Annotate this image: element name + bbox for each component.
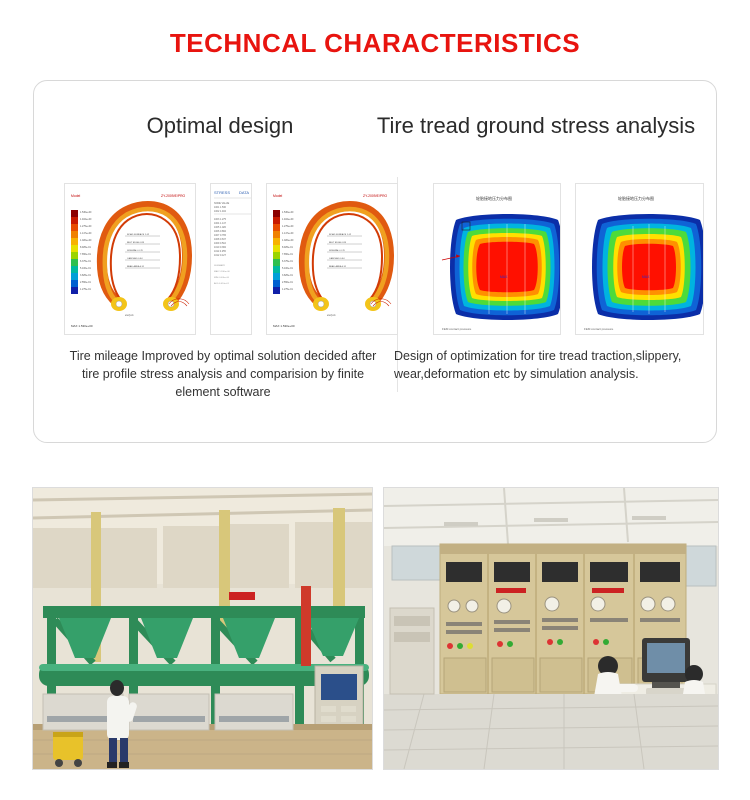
- control-room-photo: [383, 487, 719, 770]
- page-title: TECHNCAL CHARACTERISTICS: [0, 0, 750, 73]
- figure-gap: [412, 183, 419, 333]
- svg-text:FEM contact pressure: FEM contact pressure: [584, 327, 614, 331]
- svg-text:MIN 0.000e+00: MIN 0.000e+00: [214, 277, 230, 279]
- svg-text:轮胎接地压力分布图: 轮胎接地压力分布图: [618, 195, 654, 201]
- svg-text:2.550e-01: 2.550e-01: [282, 281, 293, 284]
- svg-text:1009 0.510: 1009 0.510: [214, 242, 227, 245]
- fem-data-panel: STRESS DATA NODE VALUE 1001 1.530 1002 1…: [210, 183, 252, 335]
- svg-text:ROAD SURFACE 1.02: ROAD SURFACE 1.02: [127, 233, 150, 236]
- svg-text:1.147e+00: 1.147e+00: [80, 232, 92, 235]
- svg-text:MAX: MAX: [500, 275, 508, 279]
- svg-text:1.402e+00: 1.402e+00: [282, 218, 294, 221]
- tread-contact-stress-2: 轮胎接地压力分布图 MAX: [575, 183, 704, 335]
- panel-inner: Optimal design Tire tread ground stress …: [50, 97, 700, 426]
- svg-text:analysis: analysis: [327, 314, 336, 317]
- svg-text:6.375e-01: 6.375e-01: [80, 260, 91, 263]
- svg-text:1010 0.382: 1010 0.382: [214, 246, 227, 249]
- svg-text:MAX: MAX: [642, 275, 650, 279]
- svg-text:1.020e+00: 1.020e+00: [80, 239, 92, 242]
- svg-text:1.020e+00: 1.020e+00: [282, 239, 294, 242]
- svg-text:7.650e-01: 7.650e-01: [80, 253, 91, 256]
- svg-text:8.925e-01: 8.925e-01: [80, 246, 91, 249]
- svg-text:1.402e+00: 1.402e+00: [80, 218, 92, 221]
- svg-text:1002 1.402: 1002 1.402: [214, 210, 227, 213]
- svg-text:MAX 1.530e+00: MAX 1.530e+00: [71, 324, 93, 328]
- svg-text:5.100e-01: 5.100e-01: [282, 267, 293, 270]
- svg-text:CARCASS 0.64: CARCASS 0.64: [127, 257, 143, 260]
- svg-text:1007 0.765: 1007 0.765: [214, 234, 227, 237]
- svg-text:analysis: analysis: [125, 314, 134, 317]
- svg-text:3.825e-01: 3.825e-01: [282, 274, 293, 277]
- svg-text:BELT EDGE 0.89: BELT EDGE 0.89: [127, 242, 145, 244]
- svg-text:1011 0.255: 1011 0.255: [214, 250, 226, 253]
- svg-text:6.375e-01: 6.375e-01: [282, 260, 293, 263]
- svg-text:SIDEWALL 0.76: SIDEWALL 0.76: [127, 249, 144, 252]
- caption-row: Tire mileage Improved by optimal solutio…: [64, 347, 714, 401]
- photo-row: [32, 487, 719, 770]
- svg-text:7.650e-01: 7.650e-01: [282, 253, 293, 256]
- heading-optimal-design: Optimal design: [70, 113, 370, 139]
- svg-text:SUMMARY: SUMMARY: [214, 264, 226, 267]
- caption-tread-stress: Design of optimization for tire tread tr…: [394, 347, 712, 401]
- svg-text:1001 1.530: 1001 1.530: [214, 206, 227, 209]
- svg-text:AVG 6.410e-01: AVG 6.410e-01: [214, 282, 230, 285]
- svg-text:Model: Model: [71, 194, 80, 198]
- caption-optimal-design: Tire mileage Improved by optimal solutio…: [64, 347, 382, 401]
- svg-text:1.275e+00: 1.275e+00: [282, 225, 294, 228]
- svg-text:1.275e+00: 1.275e+00: [80, 225, 92, 228]
- svg-text:ZY-2009/E/PRO: ZY-2009/E/PRO: [363, 194, 388, 198]
- technical-characteristics-panel: Optimal design Tire tread ground stress …: [33, 80, 717, 443]
- svg-text:CARCASS 0.64: CARCASS 0.64: [329, 257, 345, 260]
- page-root: TECHNCAL CHARACTERISTICS Optimal design …: [0, 0, 750, 800]
- svg-text:NODE VALUE: NODE VALUE: [214, 202, 230, 205]
- svg-text:1006 0.892: 1006 0.892: [214, 230, 227, 233]
- tread-contact-stress-1: 轮胎接地压力分布图: [433, 183, 562, 335]
- svg-text:ZY-2009/E/PRO: ZY-2009/E/PRO: [161, 194, 186, 198]
- svg-text:1005 1.020: 1005 1.020: [214, 226, 227, 229]
- svg-text:MAX 1.530e+00: MAX 1.530e+00: [214, 270, 231, 273]
- svg-text:1.147e+00: 1.147e+00: [282, 232, 294, 235]
- svg-text:1.275e-01: 1.275e-01: [282, 288, 293, 291]
- svg-text:2.550e-01: 2.550e-01: [80, 281, 91, 284]
- svg-text:MAX 1.530e+00: MAX 1.530e+00: [273, 324, 295, 328]
- panel-headings: Optimal design Tire tread ground stress …: [50, 97, 700, 139]
- svg-text:1008 0.637: 1008 0.637: [214, 238, 227, 241]
- svg-text:Model: Model: [273, 194, 282, 198]
- svg-text:ROAD SURFACE 1.02: ROAD SURFACE 1.02: [329, 233, 352, 236]
- svg-text:BEAD AREA 0.51: BEAD AREA 0.51: [329, 265, 347, 268]
- svg-text:1.530e+00: 1.530e+00: [282, 211, 294, 214]
- svg-text:1.275e-01: 1.275e-01: [80, 288, 91, 291]
- svg-text:1.530e+00: 1.530e+00: [80, 211, 92, 214]
- heading-tread-stress: Tire tread ground stress analysis: [376, 113, 696, 139]
- svg-text:FEM contact pressure: FEM contact pressure: [442, 327, 472, 331]
- svg-text:8.925e-01: 8.925e-01: [282, 246, 293, 249]
- svg-text:DATA: DATA: [239, 190, 249, 195]
- svg-text:1003 1.275: 1003 1.275: [214, 218, 227, 221]
- svg-text:1012 0.127: 1012 0.127: [214, 254, 227, 257]
- factory-production-line-photo: [32, 487, 373, 770]
- svg-text:STRESS: STRESS: [214, 190, 230, 195]
- fem-tire-section-2: 1.530e+00 1.402e+00 1.275e+00 1.147e+00 …: [266, 183, 398, 335]
- svg-text:SIDEWALL 0.76: SIDEWALL 0.76: [329, 249, 346, 252]
- svg-text:轮胎接地压力分布图: 轮胎接地压力分布图: [476, 195, 512, 201]
- svg-text:5.100e-01: 5.100e-01: [80, 267, 91, 270]
- svg-text:3.825e-01: 3.825e-01: [80, 274, 91, 277]
- fem-tire-section-1: 1.530e+00 1.402e+00 1.275e+00 1.147e+00 …: [64, 183, 196, 335]
- svg-text:1004 1.147: 1004 1.147: [214, 222, 227, 225]
- svg-text:BEAD AREA 0.51: BEAD AREA 0.51: [127, 265, 145, 268]
- figure-row: 1.530e+00 1.402e+00 1.275e+00 1.147e+00 …: [64, 183, 704, 333]
- svg-text:BELT EDGE 0.89: BELT EDGE 0.89: [329, 242, 347, 244]
